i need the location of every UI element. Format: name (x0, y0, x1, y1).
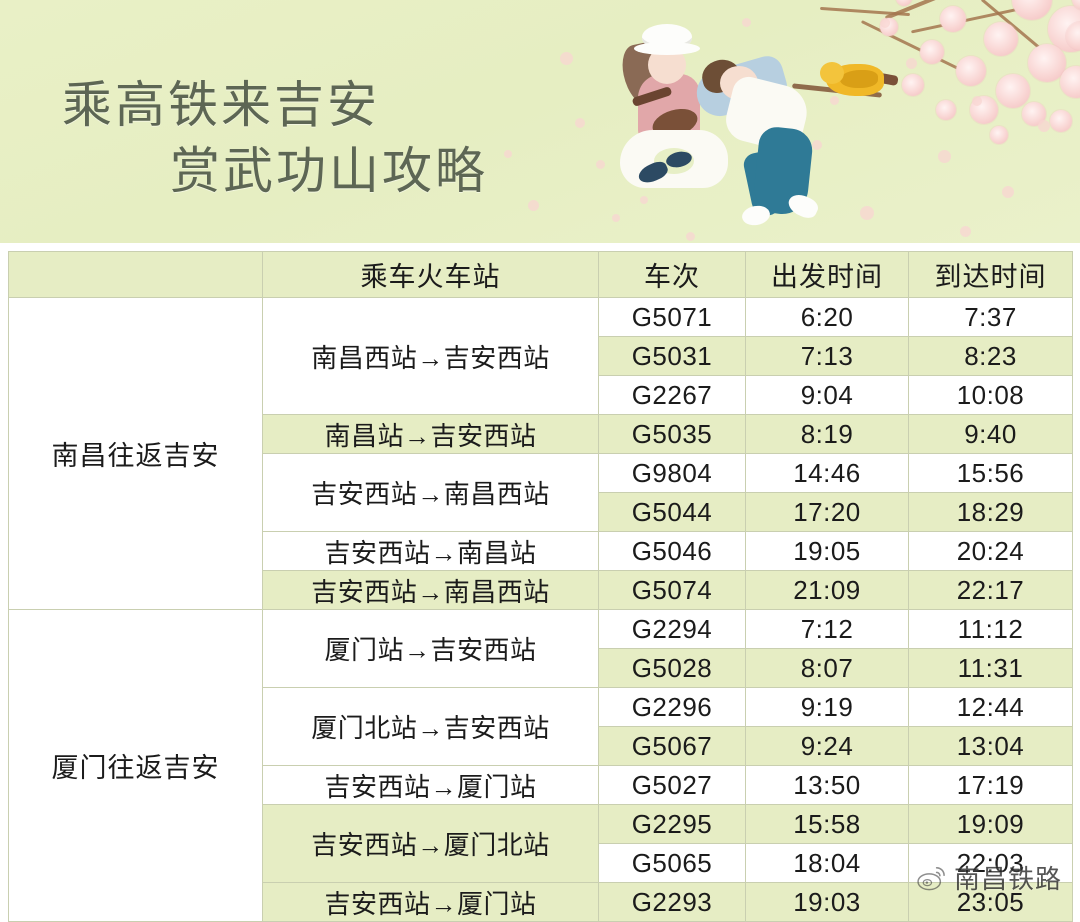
cherry-blossom (990, 126, 1008, 144)
departure-time-cell: 7:13 (746, 337, 909, 376)
falling-petal (906, 58, 917, 69)
cherry-blossom (1012, 0, 1052, 20)
table-body: 南昌往返吉安南昌西站→吉安西站G50716:207:37G50317:138:2… (9, 298, 1073, 922)
falling-petal (528, 200, 539, 211)
arrival-time-cell: 23:05 (909, 883, 1073, 922)
train-number-cell: G5074 (599, 571, 746, 610)
arrival-time-cell: 15:56 (909, 454, 1073, 493)
train-number-cell: G5028 (599, 649, 746, 688)
falling-petal (860, 206, 874, 220)
departure-time-cell: 8:07 (746, 649, 909, 688)
train-number-cell: G2294 (599, 610, 746, 649)
route-cell: 南昌西站→吉安西站 (263, 298, 599, 415)
falling-petal (640, 196, 648, 204)
departure-time-cell: 8:19 (746, 415, 909, 454)
departure-time-cell: 6:20 (746, 298, 909, 337)
falling-petal (742, 18, 751, 27)
departure-time-cell: 9:04 (746, 376, 909, 415)
blossom-twig (820, 7, 910, 16)
route-cell: 吉安西站→厦门站 (263, 883, 599, 922)
route-cell: 厦门北站→吉安西站 (263, 688, 599, 766)
falling-petal (972, 96, 982, 106)
bird-wing (840, 70, 878, 88)
departure-time-cell: 15:58 (746, 805, 909, 844)
falling-petal (504, 150, 512, 158)
page-title: 乘高铁来吉安赏武功山攻略 (62, 72, 488, 204)
arrival-time-cell: 19:09 (909, 805, 1073, 844)
arrival-time-cell: 22:17 (909, 571, 1073, 610)
route-cell: 南昌站→吉安西站 (263, 415, 599, 454)
departure-time-cell: 9:24 (746, 727, 909, 766)
falling-petal (612, 214, 620, 222)
schedule-table-container: 乘车火车站 车次 出发时间 到达时间 南昌往返吉安南昌西站→吉安西站G50716… (0, 243, 1080, 905)
train-number-cell: G5046 (599, 532, 746, 571)
falling-petal (960, 226, 971, 237)
train-number-cell: G2293 (599, 883, 746, 922)
illustration-boy-lying (690, 40, 835, 215)
title-line-2: 赏武功山攻略 (62, 138, 488, 204)
departure-time-cell: 14:46 (746, 454, 909, 493)
train-number-cell: G5027 (599, 766, 746, 805)
arrival-time-cell: 20:24 (909, 532, 1073, 571)
column-header-departure: 出发时间 (746, 252, 909, 298)
route-group-label: 南昌往返吉安 (9, 298, 263, 610)
arrival-time-cell: 8:23 (909, 337, 1073, 376)
table-row: 南昌往返吉安南昌西站→吉安西站G50716:207:37 (9, 298, 1073, 337)
cherry-blossom (920, 40, 944, 64)
cherry-blossom (1060, 66, 1080, 98)
falling-petal (560, 52, 573, 65)
arrival-time-cell: 10:08 (909, 376, 1073, 415)
train-number-cell: G2267 (599, 376, 746, 415)
arrival-time-cell: 22:03 (909, 844, 1073, 883)
train-number-cell: G5044 (599, 493, 746, 532)
falling-petal (686, 232, 695, 241)
departure-time-cell: 19:05 (746, 532, 909, 571)
cherry-blossom (996, 74, 1030, 108)
header-row: 乘车火车站 车次 出发时间 到达时间 (9, 252, 1073, 298)
departure-time-cell: 19:03 (746, 883, 909, 922)
route-cell: 吉安西站→南昌西站 (263, 571, 599, 610)
arrival-time-cell: 9:40 (909, 415, 1073, 454)
cherry-blossom (984, 22, 1018, 56)
cherry-blossom (902, 74, 924, 96)
bird-head (820, 62, 844, 84)
route-cell: 吉安西站→南昌西站 (263, 454, 599, 532)
train-number-cell: G2296 (599, 688, 746, 727)
arrival-time-cell: 17:19 (909, 766, 1073, 805)
train-schedule-table: 乘车火车站 车次 出发时间 到达时间 南昌往返吉安南昌西站→吉安西站G50716… (8, 251, 1073, 922)
column-header-train-no: 车次 (599, 252, 746, 298)
departure-time-cell: 13:50 (746, 766, 909, 805)
train-number-cell: G2295 (599, 805, 746, 844)
route-cell: 吉安西站→南昌站 (263, 532, 599, 571)
falling-petal (880, 18, 890, 28)
route-cell: 吉安西站→厦门北站 (263, 805, 599, 883)
train-number-cell: G5065 (599, 844, 746, 883)
column-header-arrival: 到达时间 (909, 252, 1073, 298)
hero-banner: 乘高铁来吉安赏武功山攻略 (0, 0, 1080, 243)
cherry-blossom (940, 6, 966, 32)
falling-petal (1038, 120, 1050, 132)
arrival-time-cell: 11:31 (909, 649, 1073, 688)
title-line-1: 乘高铁来吉安 (62, 77, 380, 133)
illustration-yellow-bird (818, 58, 896, 102)
falling-petal (938, 150, 951, 163)
arrival-time-cell: 13:04 (909, 727, 1073, 766)
cherry-blossom (956, 56, 986, 86)
table-row: 厦门往返吉安厦门站→吉安西站G22947:1211:12 (9, 610, 1073, 649)
arrival-time-cell: 18:29 (909, 493, 1073, 532)
train-number-cell: G9804 (599, 454, 746, 493)
falling-petal (575, 118, 585, 128)
cherry-blossom (1050, 110, 1072, 132)
train-number-cell: G5071 (599, 298, 746, 337)
column-header-group (9, 252, 263, 298)
train-number-cell: G5031 (599, 337, 746, 376)
train-number-cell: G5035 (599, 415, 746, 454)
departure-time-cell: 21:09 (746, 571, 909, 610)
cherry-blossom (936, 100, 956, 120)
departure-time-cell: 9:19 (746, 688, 909, 727)
departure-time-cell: 18:04 (746, 844, 909, 883)
route-group-label: 厦门往返吉安 (9, 610, 263, 922)
arrival-time-cell: 11:12 (909, 610, 1073, 649)
falling-petal (1002, 186, 1014, 198)
column-header-route: 乘车火车站 (263, 252, 599, 298)
train-number-cell: G5067 (599, 727, 746, 766)
departure-time-cell: 17:20 (746, 493, 909, 532)
route-cell: 吉安西站→厦门站 (263, 766, 599, 805)
arrival-time-cell: 7:37 (909, 298, 1073, 337)
route-cell: 厦门站→吉安西站 (263, 610, 599, 688)
table-header: 乘车火车站 车次 出发时间 到达时间 (9, 252, 1073, 298)
falling-petal (596, 160, 605, 169)
arrival-time-cell: 12:44 (909, 688, 1073, 727)
departure-time-cell: 7:12 (746, 610, 909, 649)
